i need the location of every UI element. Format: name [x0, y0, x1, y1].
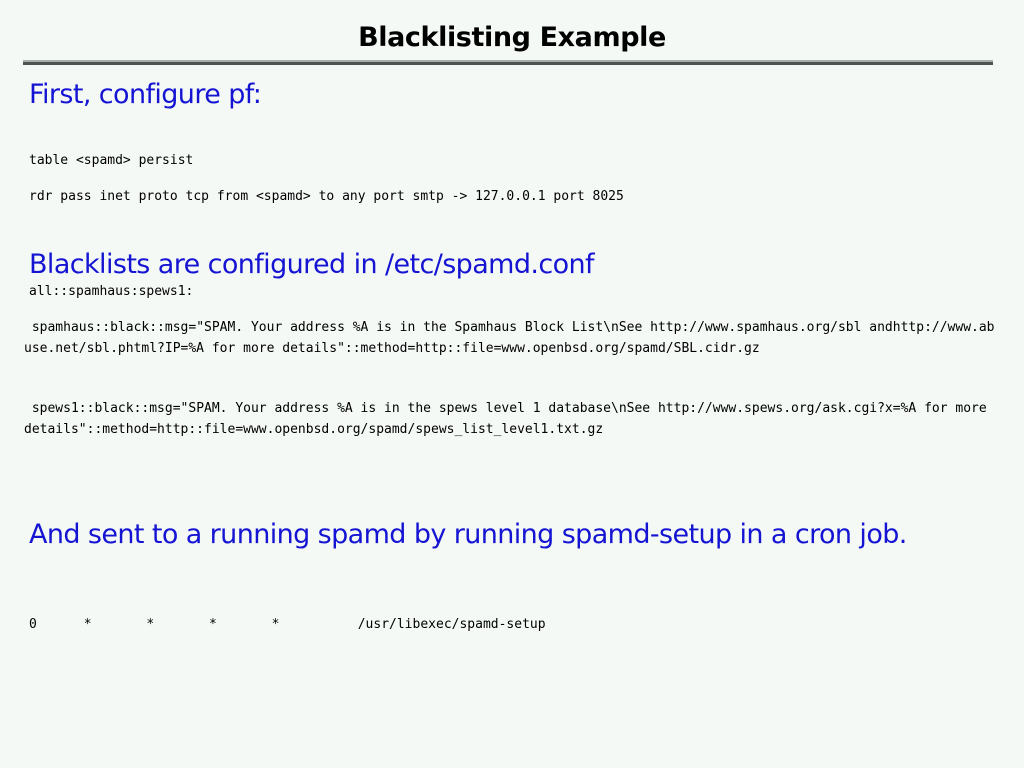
presentation-slide: Blacklisting Example First, configure pf… [0, 0, 1024, 768]
title-divider-rule [23, 60, 993, 65]
code-line-rdr-rule: rdr pass inet proto tcp from <spamd> to … [29, 190, 624, 203]
code-block-spamhaus: spamhaus::black::msg="SPAM. Your address… [24, 317, 999, 359]
code-line-table-spamd: table <spamd> persist [29, 154, 193, 167]
code-line-all-lists: all::spamhaus:spews1: [29, 285, 193, 298]
code-line-crontab-entry: 0 * * * * /usr/libexec/spamd-setup [29, 618, 546, 631]
slide-title: Blacklisting Example [0, 24, 1024, 52]
heading-configure-pf: First, configure pf: [29, 80, 261, 110]
heading-blacklists-configured: Blacklists are configured in /etc/spamd.… [29, 250, 594, 280]
code-block-spews1: spews1::black::msg="SPAM. Your address %… [24, 398, 999, 440]
heading-spamd-setup-cron: And sent to a running spamd by running s… [29, 520, 907, 550]
divider-shadow [23, 62, 993, 65]
